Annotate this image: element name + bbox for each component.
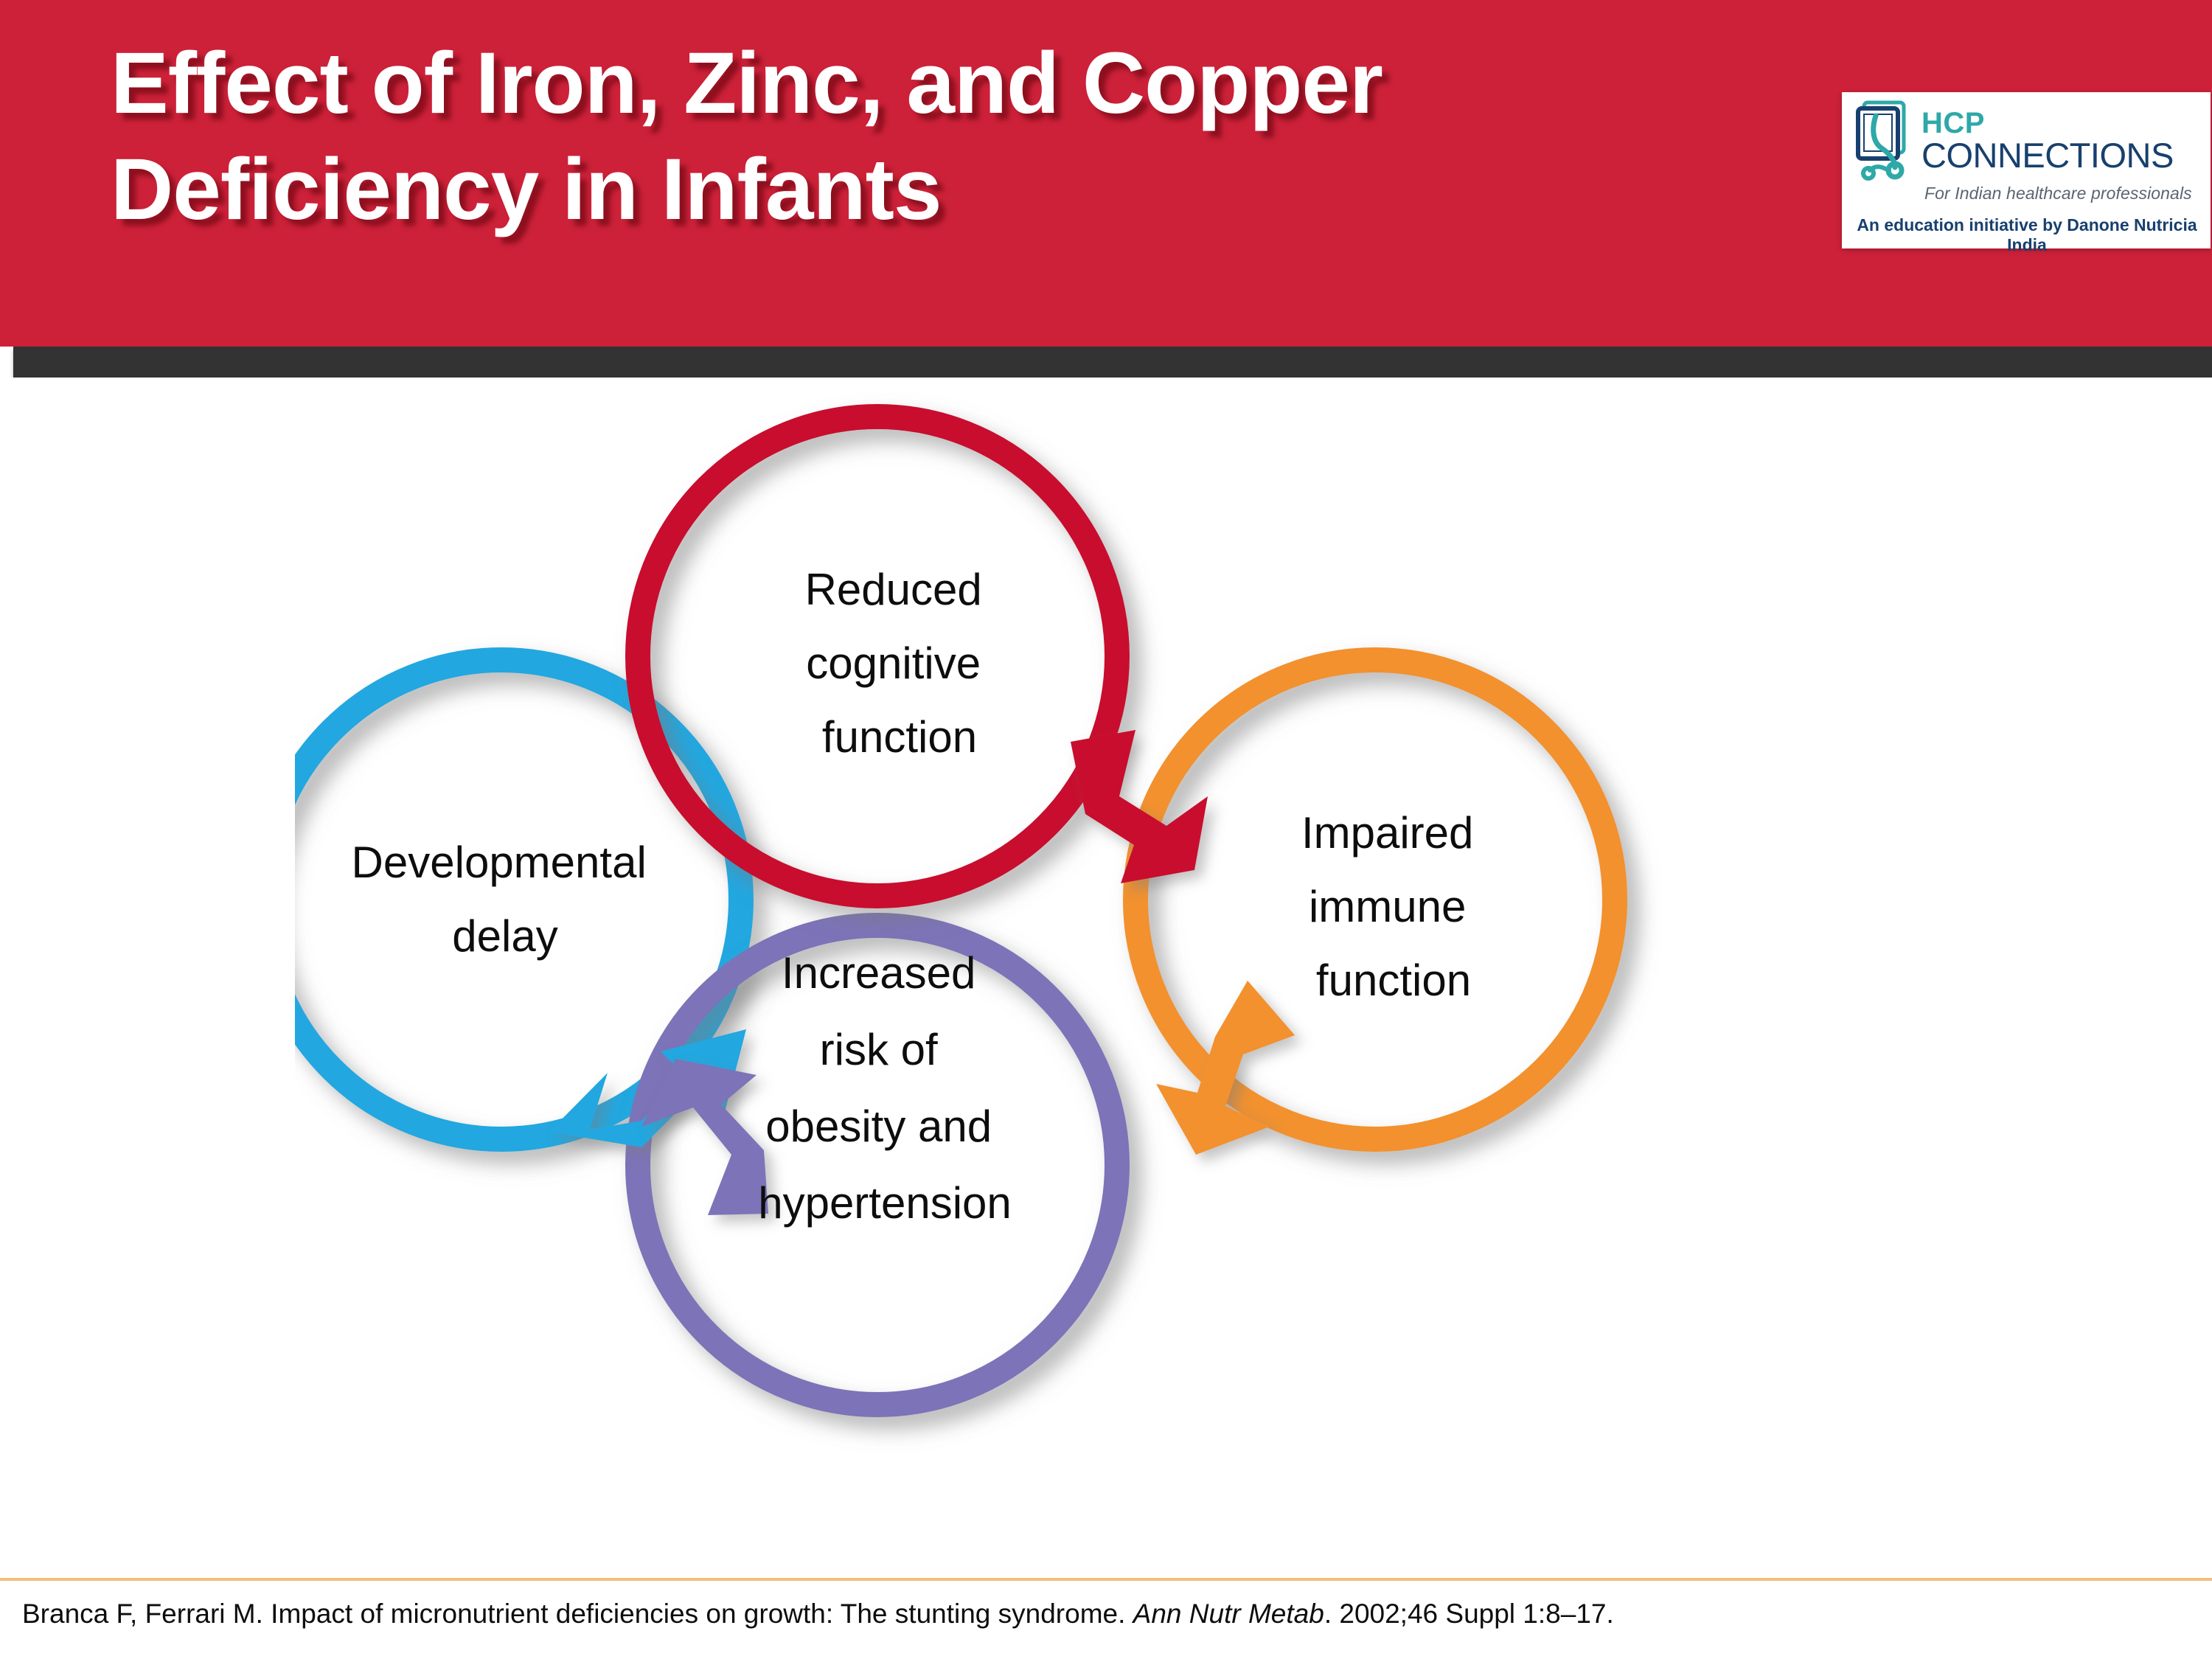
node-line: delay [452,911,557,961]
node-line: Increased [782,948,976,998]
logo-hcp-text: HCP [1921,109,2202,137]
node-label-cognitive: Reduced cognitive function [805,565,995,762]
logo-tagline: For Indian healthcare professionals [1924,184,2202,204]
node-label-immune: Impaired immune function [1301,808,1486,1005]
header-underbar [13,347,2212,378]
node-line: cognitive [806,639,981,688]
node-line: risk of [820,1025,938,1074]
logo-top-row: HCP CONNECTIONS [1852,100,2202,182]
citation-part2: . 2002;46 Suppl 1:8–17. [1324,1599,1614,1629]
node-line: function [822,712,977,762]
logo-connections-text: CONNECTIONS [1921,138,2202,173]
footer-divider [0,1578,2212,1581]
node-line: hypertension [758,1178,1012,1228]
tablet-stethoscope-icon [1852,100,1914,182]
node-label-developmental: Developmental delay [352,838,659,961]
logo-wordmark: HCP CONNECTIONS [1921,109,2202,172]
node-line: function [1316,956,1471,1005]
logo-initiative-text: An education initiative by Danone Nutric… [1852,215,2202,255]
node-label-obesity: Increased risk of obesity and hypertensi… [758,948,1012,1228]
hcp-connections-logo: HCP CONNECTIONS For Indian healthcare pr… [1842,92,2211,248]
node-line: Impaired [1301,808,1473,858]
page-title: Effect of Iron, Zinc, and Copper Deficie… [111,31,1747,243]
citation-journal: Ann Nutr Metab [1133,1599,1324,1629]
node-line: immune [1309,882,1466,931]
citation-text: Branca F, Ferrari M. Impact of micronutr… [22,1599,2160,1630]
citation-part1: Branca F, Ferrari M. Impact of micronutr… [22,1599,1133,1629]
node-line: Developmental [352,838,647,887]
cycle-diagram: Reduced cognitive function Impaired immu… [295,383,1932,1563]
node-line: obesity and [765,1102,992,1151]
node-line: Reduced [805,565,982,614]
